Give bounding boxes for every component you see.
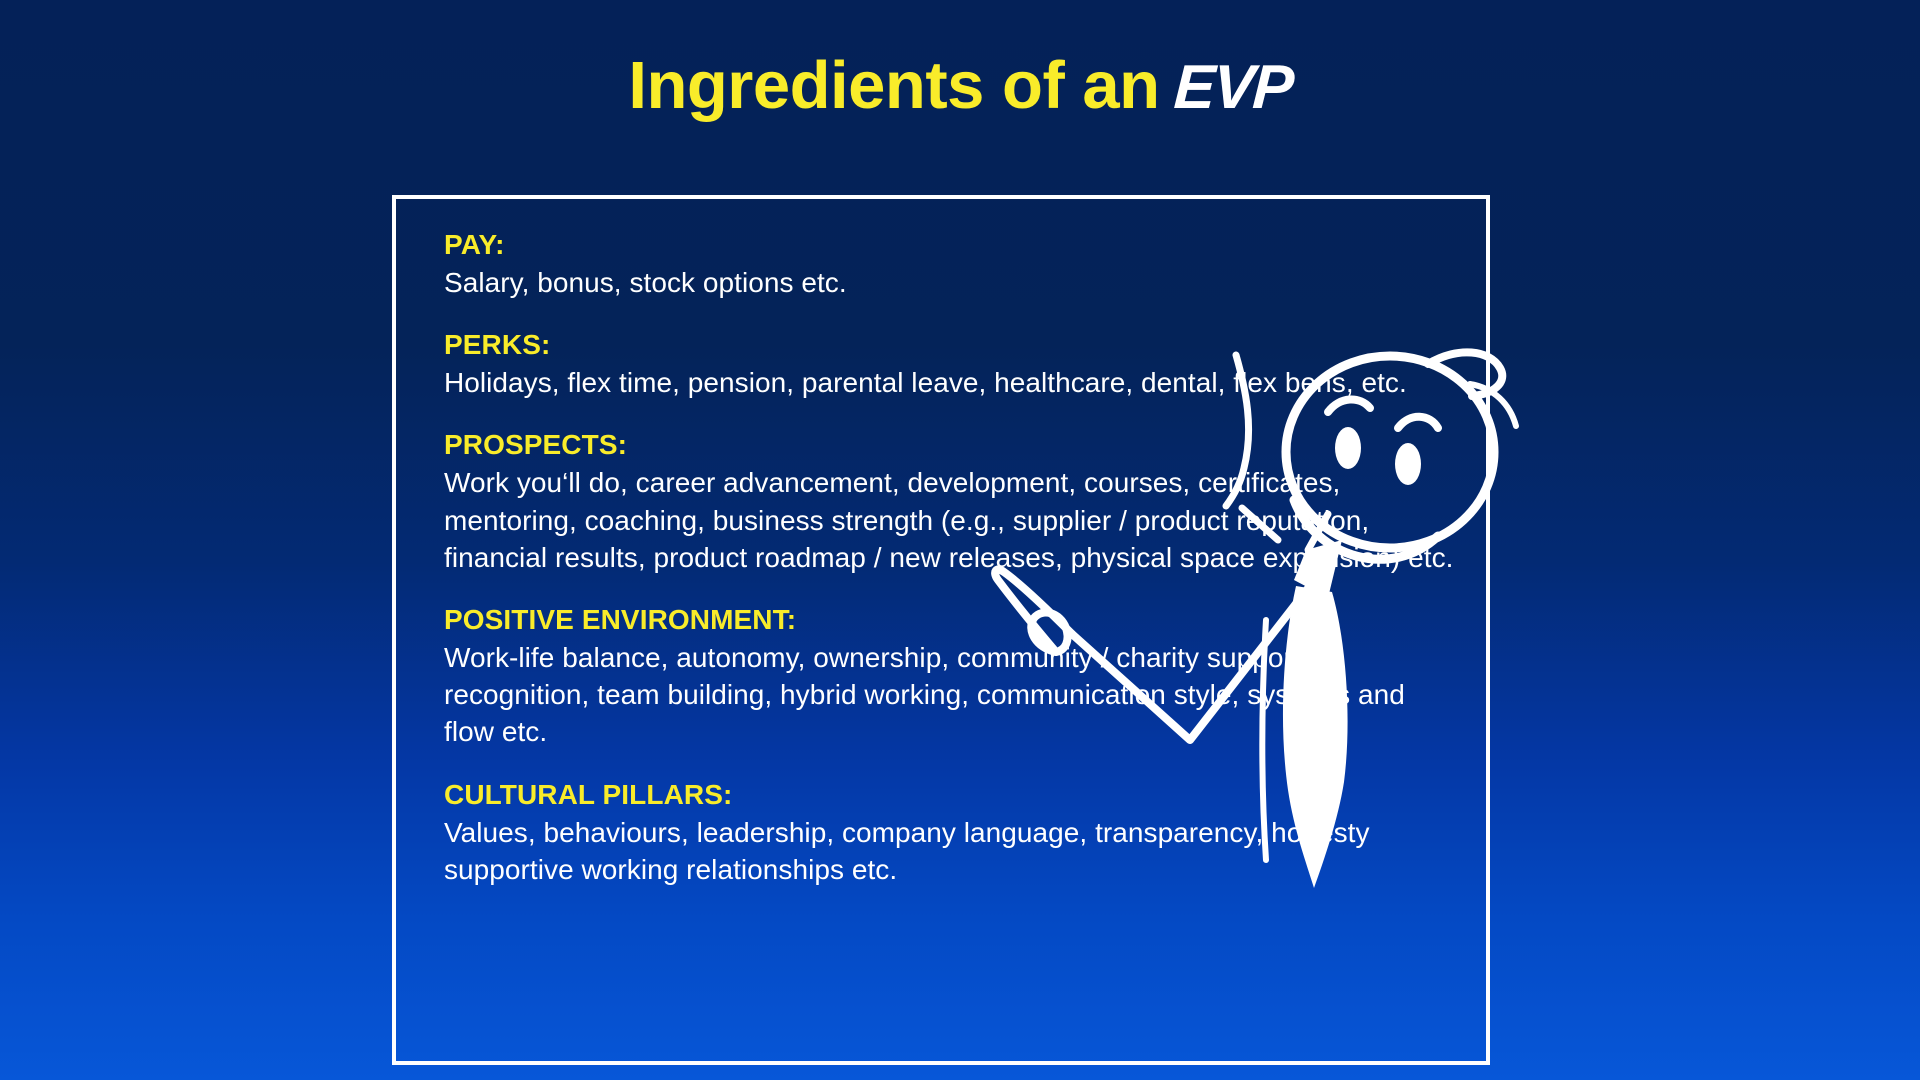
- section-cultural-pillars: CULTURAL PILLARS: Values, behaviours, le…: [444, 777, 1454, 888]
- section-perks-heading: PERKS:: [444, 327, 1454, 364]
- section-positive-environment-heading: POSITIVE ENVIRONMENT:: [444, 602, 1454, 639]
- page-title-text: Ingredients of an: [628, 48, 1159, 123]
- section-pay-heading: PAY:: [444, 227, 1454, 264]
- section-cultural-pillars-heading: CULTURAL PILLARS:: [444, 777, 1454, 814]
- section-positive-environment-body: Work-life balance, autonomy, ownership, …: [444, 639, 1454, 751]
- section-prospects: PROSPECTS: Work you‘ll do, career advanc…: [444, 427, 1454, 576]
- slide-root: Ingredients of anEVP PAY: Salary, bonus,…: [0, 0, 1920, 1080]
- section-perks: PERKS: Holidays, flex time, pension, par…: [444, 327, 1454, 401]
- ingredients-panel: PAY: Salary, bonus, stock options etc. P…: [392, 195, 1490, 1065]
- ingredients-list: PAY: Salary, bonus, stock options etc. P…: [444, 227, 1454, 888]
- section-pay-body: Salary, bonus, stock options etc.: [444, 264, 1454, 301]
- evp-logo-text: EVP: [1172, 57, 1293, 119]
- section-pay: PAY: Salary, bonus, stock options etc.: [444, 227, 1454, 301]
- section-perks-body: Holidays, flex time, pension, parental l…: [444, 364, 1454, 401]
- section-prospects-heading: PROSPECTS:: [444, 427, 1454, 464]
- page-title: Ingredients of anEVP: [0, 52, 1920, 119]
- section-positive-environment: POSITIVE ENVIRONMENT: Work-life balance,…: [444, 602, 1454, 751]
- section-prospects-body: Work you‘ll do, career advancement, deve…: [444, 464, 1454, 576]
- section-cultural-pillars-body: Values, behaviours, leadership, company …: [444, 814, 1454, 888]
